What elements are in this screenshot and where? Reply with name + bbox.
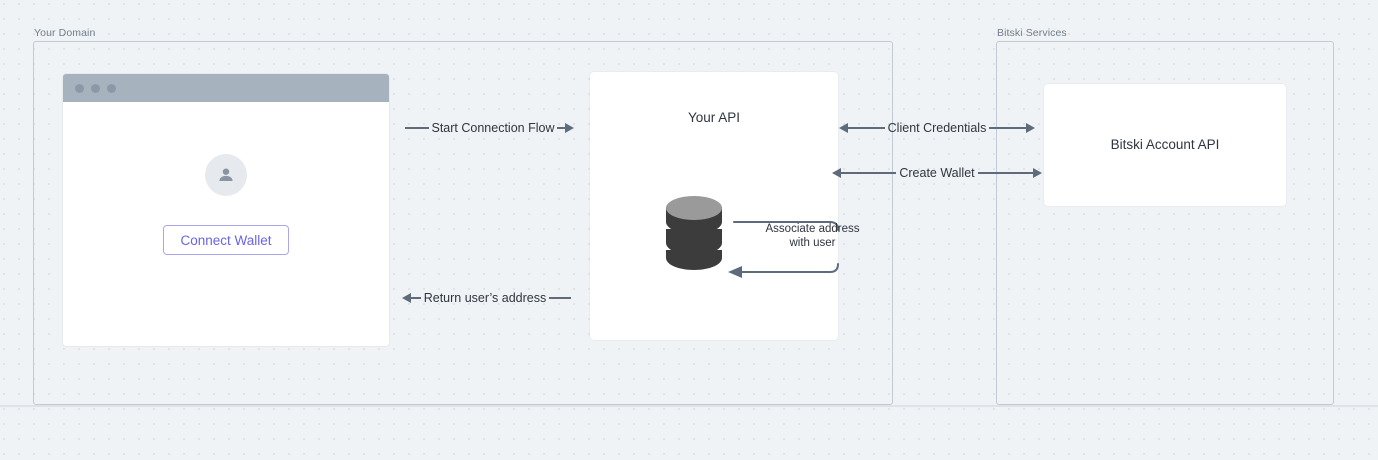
- connector-line-left: [411, 297, 421, 299]
- associate-label-line1: Associate address: [755, 222, 870, 236]
- service-box-title-bitski-account-api: Bitski Account API: [1044, 137, 1286, 152]
- connect-wallet-button[interactable]: Connect Wallet: [163, 225, 289, 255]
- connector-return-user-address: Return user’s address: [383, 290, 590, 306]
- connector-label-start-connection-flow: Start Connection Flow: [429, 122, 558, 135]
- connector-label-return-user-address: Return user’s address: [421, 292, 550, 305]
- connector-line-left: [405, 127, 429, 129]
- browser-window-mock: Connect Wallet: [63, 74, 389, 346]
- connector-client-credentials: Client Credentials: [830, 120, 1044, 136]
- browser-chrome-bar: [63, 74, 389, 102]
- arrow-left-icon: [832, 168, 841, 178]
- arrow-left-icon: [839, 123, 848, 133]
- group-label-your-domain: Your Domain: [34, 27, 95, 39]
- arrow-left-icon: [402, 293, 411, 303]
- window-maximize-dot-icon[interactable]: [107, 84, 116, 93]
- connector-label-create-wallet: Create Wallet: [896, 167, 977, 180]
- database-cylinder-icon: [664, 196, 724, 274]
- window-minimize-dot-icon[interactable]: [91, 84, 100, 93]
- connector-line-right: [978, 172, 1033, 174]
- window-close-dot-icon[interactable]: [75, 84, 84, 93]
- connector-line-right: [989, 127, 1026, 129]
- connector-label-client-credentials: Client Credentials: [885, 122, 990, 135]
- connector-line-left: [841, 172, 896, 174]
- service-box-title-your-api: Your API: [590, 110, 838, 125]
- connector-line-left: [848, 127, 885, 129]
- browser-content-area: Connect Wallet: [63, 102, 389, 346]
- service-box-bitski-account-api: Bitski Account API: [1044, 84, 1286, 206]
- canvas-divider-line: [0, 405, 1378, 407]
- arrow-right-icon: [1026, 123, 1035, 133]
- connector-start-connection-flow: Start Connection Flow: [389, 120, 590, 136]
- connector-line-right: [557, 127, 565, 129]
- group-label-bitski-services: Bitski Services: [997, 27, 1067, 39]
- arrow-right-icon: [1033, 168, 1042, 178]
- connector-line-right: [549, 297, 571, 299]
- associate-label-line2: with user: [755, 236, 870, 250]
- person-icon: [205, 154, 247, 196]
- connector-create-wallet: Create Wallet: [830, 165, 1044, 181]
- arrow-right-icon: [565, 123, 574, 133]
- connector-label-associate-address: Associate address with user: [755, 222, 870, 250]
